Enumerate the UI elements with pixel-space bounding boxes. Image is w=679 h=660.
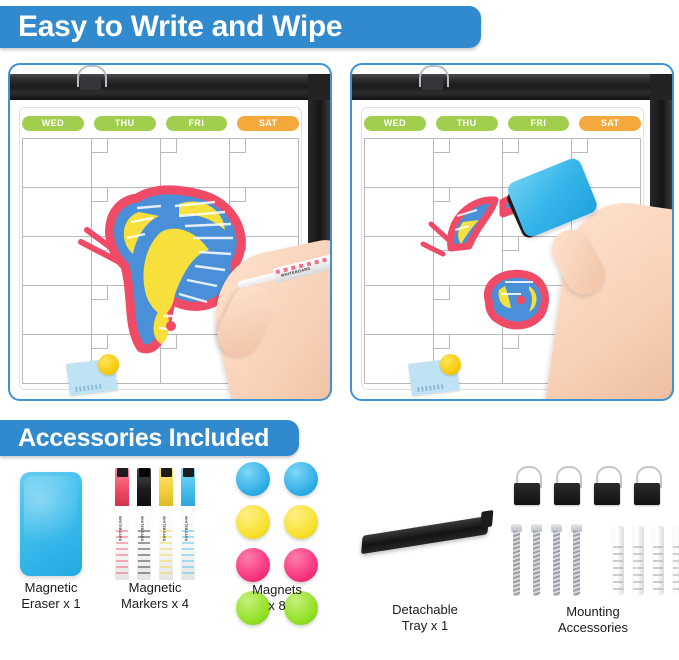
- board-hanging-hook-icon-right: [416, 65, 448, 87]
- sticky-note-magnet-left: [98, 354, 119, 375]
- day-pill-fri: FRI: [166, 116, 228, 131]
- day-pill-wed: WED: [22, 116, 84, 131]
- wall-hook-3: [594, 466, 620, 506]
- calendar-sheet-right: WED THU FRI SAT: [361, 107, 644, 390]
- wall-anchor-2: [632, 526, 644, 596]
- wall-hook-2: [554, 466, 580, 506]
- board-frame-corner-right: [650, 74, 672, 100]
- magnet-blue-1: [236, 462, 270, 496]
- calendar-sheet-left: WED THU FRI SAT: [19, 107, 302, 390]
- day-pill-sat-right: SAT: [579, 116, 641, 131]
- magnet-yellow-1: [236, 505, 270, 539]
- wall-anchors-set: [612, 526, 679, 596]
- accessories-row: Magnetic Eraser x 1 WHITEBOARD WHITEBOAR…: [0, 462, 679, 660]
- accessory-caption-eraser: Magnetic Eraser x 1: [9, 580, 93, 612]
- marker-black-icon: WHITEBOARD: [137, 468, 151, 580]
- whiteboard-panel-wiping: WED THU FRI SAT: [350, 63, 674, 401]
- board-frame-top: [10, 74, 330, 100]
- accessory-magnetic-markers: WHITEBOARD WHITEBOARD WHITEBOARD: [100, 468, 210, 612]
- marker-blue-icon: WHITEBOARD: [181, 468, 195, 580]
- magnetic-eraser-icon: [20, 472, 82, 576]
- section-banner-write-wipe: Easy to Write and Wipe: [0, 6, 481, 48]
- magnet-blue-2: [284, 462, 318, 496]
- day-pill-sat: SAT: [237, 116, 299, 131]
- wall-anchor-1: [612, 526, 624, 596]
- marker-yellow-icon: WHITEBOARD: [159, 468, 173, 580]
- marker-yellow-label: WHITEBOARD: [162, 516, 166, 541]
- screws-set: [512, 524, 581, 596]
- screw-4: [572, 524, 581, 596]
- calendar-day-header-row-left: WED THU FRI SAT: [22, 114, 299, 132]
- accessory-magnets: Magnets x 8: [222, 462, 332, 614]
- section-banner-accessories: Accessories Included: [0, 420, 299, 456]
- accessory-caption-mounting: Mounting Accessories: [508, 604, 678, 636]
- magnet-pink-2: [284, 548, 318, 582]
- day-pill-wed-right: WED: [364, 116, 426, 131]
- wall-hook-4: [634, 466, 660, 506]
- marker-black-label: WHITEBOARD: [140, 516, 144, 541]
- day-pill-fri-right: FRI: [508, 116, 570, 131]
- wall-hook-1: [514, 466, 540, 506]
- board-hanging-hook-icon: [74, 65, 106, 87]
- board-frame-corner: [308, 74, 330, 100]
- wall-hooks-set: [514, 466, 660, 506]
- magnet-pink-1: [236, 548, 270, 582]
- banner-write-wipe-label: Easy to Write and Wipe: [18, 10, 342, 44]
- accessory-detachable-tray: Detachable Tray x 1: [345, 468, 505, 634]
- accessory-magnetic-eraser: Magnetic Eraser x 1: [9, 468, 93, 612]
- accessory-caption-tray: Detachable Tray x 1: [345, 602, 505, 634]
- screw-1: [512, 524, 521, 596]
- banner-accessories-label: Accessories Included: [18, 424, 269, 453]
- whiteboard-panel-writing: WED THU FRI SAT: [8, 63, 332, 401]
- screw-2: [532, 524, 541, 596]
- detachable-tray-icon: [361, 516, 489, 555]
- day-pill-thu-right: THU: [436, 116, 498, 131]
- sticky-note-magnet-right: [440, 354, 461, 375]
- screw-3: [552, 524, 561, 596]
- marker-pink-icon: WHITEBOARD: [115, 468, 129, 580]
- calendar-day-header-row-right: WED THU FRI SAT: [364, 114, 641, 132]
- mounting-accessories-icon: [508, 466, 678, 598]
- magnet-yellow-2: [284, 505, 318, 539]
- accessory-mounting: Mounting Accessories: [508, 466, 678, 636]
- day-pill-thu: THU: [94, 116, 156, 131]
- accessory-caption-markers: Magnetic Markers x 4: [100, 580, 210, 612]
- wall-anchor-4: [672, 526, 679, 596]
- wall-anchor-3: [652, 526, 664, 596]
- board-frame-top-right: [352, 74, 672, 100]
- marker-blue-label: WHITEBOARD: [184, 516, 188, 541]
- marker-pink-label: WHITEBOARD: [118, 516, 122, 541]
